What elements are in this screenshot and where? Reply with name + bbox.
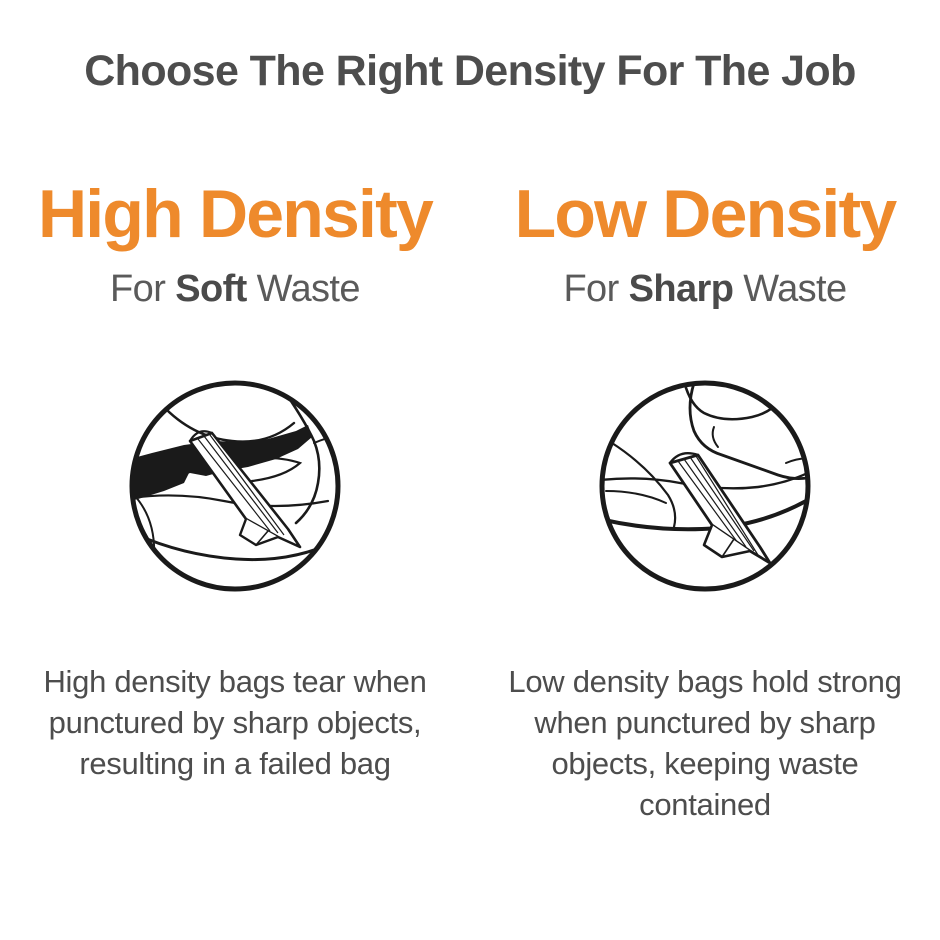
waste-subheading-emphasis: Soft bbox=[175, 268, 246, 310]
waste-subheading-prefix: For bbox=[563, 268, 628, 310]
column-low-density: Low Density For Sharp Waste bbox=[470, 178, 940, 825]
waste-subheading-sharp: For Sharp Waste bbox=[563, 269, 846, 311]
waste-subheading-emphasis: Sharp bbox=[629, 268, 734, 310]
bag-torn-by-sharp-object-icon bbox=[128, 379, 342, 593]
density-heading-low: Low Density bbox=[515, 178, 896, 251]
waste-subheading-suffix: Waste bbox=[733, 268, 846, 310]
column-high-density: High Density For Soft Waste bbox=[0, 178, 470, 825]
comparison-columns: High Density For Soft Waste bbox=[0, 178, 940, 825]
caption-high-density: High density bags tear when punctured by… bbox=[15, 661, 455, 784]
density-comparison-infographic: Choose The Right Density For The Job Hig… bbox=[0, 0, 940, 940]
caption-low-density: Low density bags hold strong when punctu… bbox=[485, 661, 925, 825]
waste-subheading-suffix: Waste bbox=[247, 268, 360, 310]
page-title: Choose The Right Density For The Job bbox=[0, 48, 940, 95]
bag-holding-strong-against-sharp-object-icon bbox=[598, 379, 812, 593]
density-heading-high: High Density bbox=[38, 178, 432, 251]
waste-subheading-soft: For Soft Waste bbox=[110, 269, 360, 311]
waste-subheading-prefix: For bbox=[110, 268, 175, 310]
